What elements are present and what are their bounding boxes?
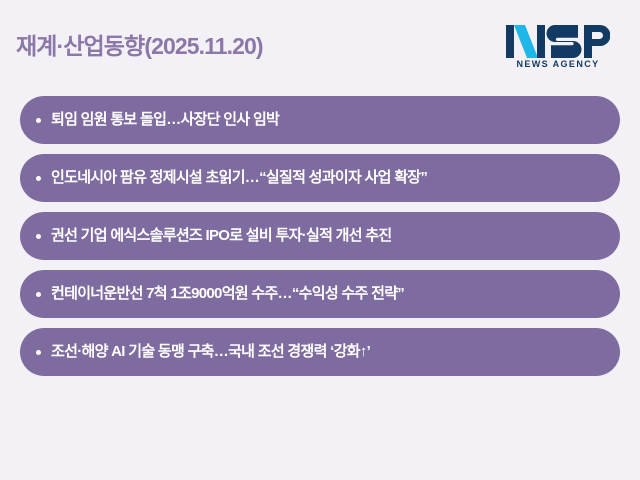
list-item[interactable]: 인도네시아 팜유 정제시설 초읽기…“실질적 성과이자 사업 확장”	[20, 154, 620, 202]
bullet-dot-icon	[36, 118, 41, 123]
bullet-dot-icon	[36, 350, 41, 355]
headline-text: 인도네시아 팜유 정제시설 초읽기…“실질적 성과이자 사업 확장”	[51, 169, 427, 187]
headline-list: 퇴임 임원 통보 돌입…사장단 인사 임박 인도네시아 팜유 정제시설 초읽기……	[20, 96, 620, 376]
headline-text: 컨테이너운반선 7척 1조9000억원 수주…“수익성 수주 전략”	[51, 285, 404, 303]
page-title: 재계·산업동향(2025.11.20)	[16, 34, 263, 59]
headline-text: 퇴임 임원 통보 돌입…사장단 인사 임박	[51, 111, 279, 129]
bullet-dot-icon	[36, 176, 41, 181]
logo-tagline: NEWS AGENCY	[516, 60, 599, 69]
news-summary-card: 재계·산업동향(2025.11.20) NEWS AGENCY 퇴임 임원 통보…	[0, 0, 640, 480]
list-item[interactable]: 컨테이너운반선 7척 1조9000억원 수주…“수익성 수주 전략”	[20, 270, 620, 318]
headline-text: 권선 기업 에식스솔루션즈 IPO로 설비 투자·실적 개선 추진	[51, 227, 392, 245]
bullet-dot-icon	[36, 234, 41, 239]
bullet-dot-icon	[36, 292, 41, 297]
list-item[interactable]: 조선·해양 AI 기술 동맹 구축…국내 조선 경쟁력 ‘강화↑’	[20, 328, 620, 376]
nsp-wordmark-icon	[506, 25, 610, 59]
list-item[interactable]: 권선 기업 에식스솔루션즈 IPO로 설비 투자·실적 개선 추진	[20, 212, 620, 260]
list-item[interactable]: 퇴임 임원 통보 돌입…사장단 인사 임박	[20, 96, 620, 144]
card-header: 재계·산업동향(2025.11.20) NEWS AGENCY	[0, 0, 640, 92]
nsp-logo: NEWS AGENCY	[506, 25, 610, 69]
headline-text: 조선·해양 AI 기술 동맹 구축…국내 조선 경쟁력 ‘강화↑’	[51, 343, 370, 361]
